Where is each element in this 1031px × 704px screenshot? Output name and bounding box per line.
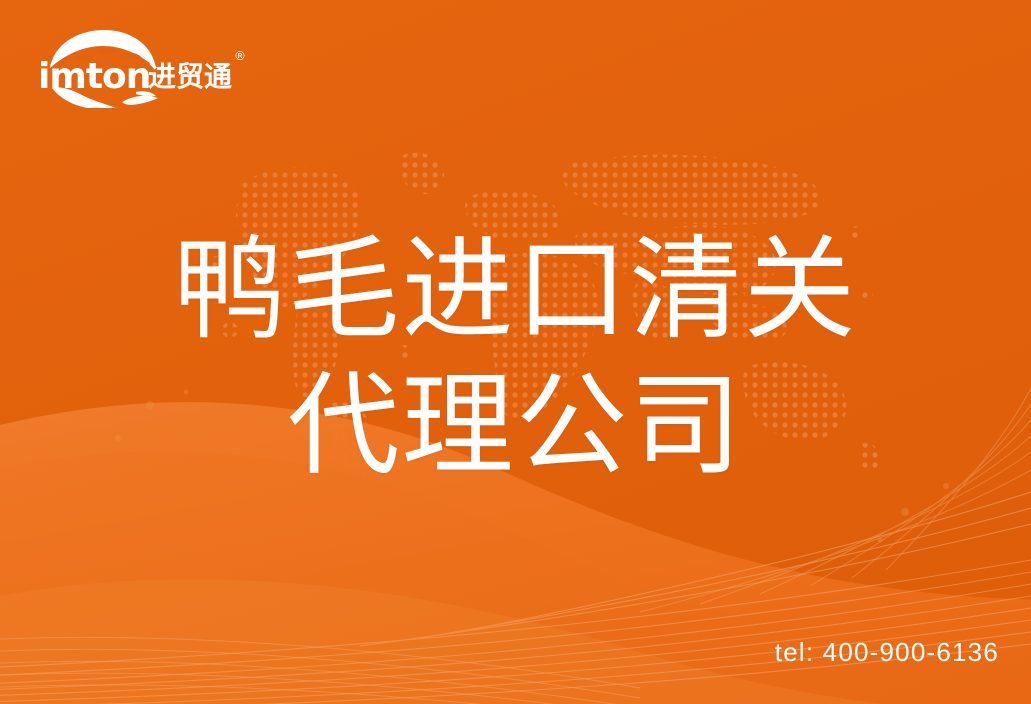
contact-phone[interactable]: tel: 400-900-6136 [775,637,999,668]
headline-line-2: 代理公司 [0,358,1031,494]
promo-banner: imton 进贸通 ® 鸭毛进口清关 代理公司 tel: 400-900-613… [0,0,1031,704]
logo-artwork: imton 进贸通 ® [36,26,266,108]
page-title: 鸭毛进口清关 代理公司 [0,222,1031,494]
company-logo[interactable]: imton 进贸通 ® [36,26,266,108]
logo-chinese-name: 进贸通 [148,60,232,93]
trademark-symbol: ® [234,49,246,63]
headline-line-1: 鸭毛进口清关 [0,222,1031,358]
